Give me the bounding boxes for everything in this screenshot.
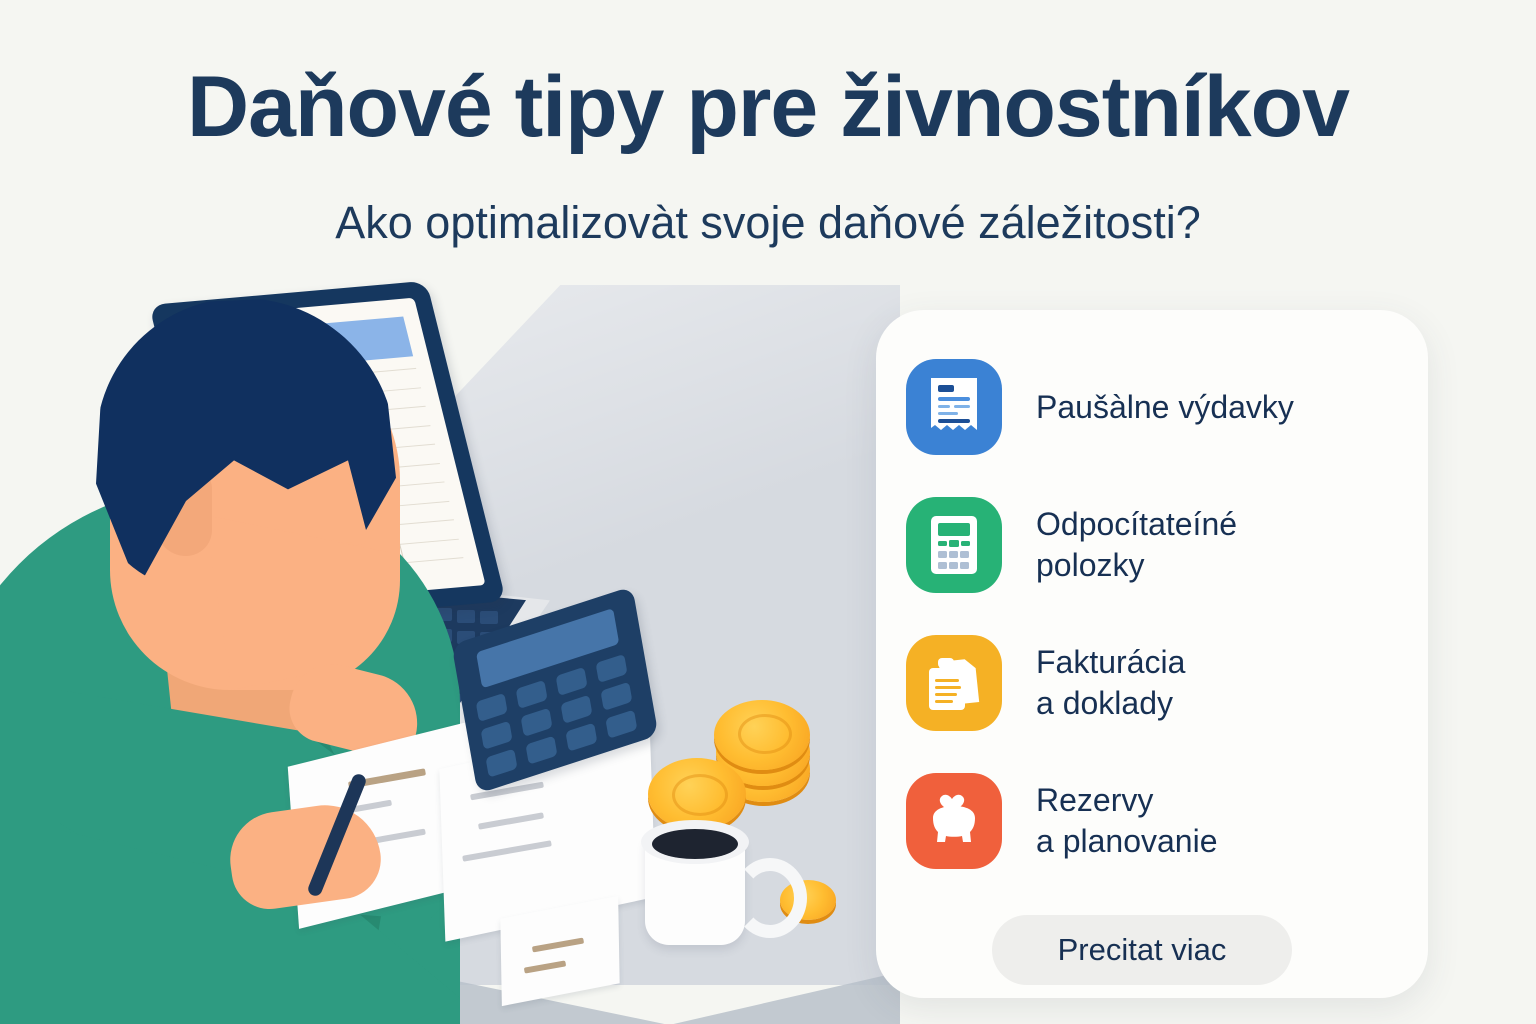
list-item[interactable]: Odpocítateíné polozky xyxy=(906,476,1406,614)
calculator-key xyxy=(486,749,518,778)
list-item[interactable]: Fakturácia a doklady xyxy=(906,614,1406,752)
list-item-label: Rezervy a planovanie xyxy=(1036,780,1217,862)
list-item-label: Fakturácia a doklady xyxy=(1036,642,1185,724)
page-subtitle: Ako optimalizovàt svoje daňové záležitos… xyxy=(0,198,1536,248)
calculator-key xyxy=(481,721,513,750)
calculator-key xyxy=(600,682,632,711)
calculator-key xyxy=(476,693,508,722)
piggy-bank-icon xyxy=(906,773,1002,869)
features-list: Paušàlne výdavky xyxy=(906,338,1406,890)
calculator-key xyxy=(521,708,553,737)
features-card: Paušàlne výdavky xyxy=(876,310,1428,998)
page-title: Daňové tipy pre živnostníkov xyxy=(0,62,1536,152)
calculator-key xyxy=(525,736,557,765)
receipt-icon xyxy=(906,359,1002,455)
keyboard-key xyxy=(480,611,498,624)
calculator-key xyxy=(565,723,597,752)
keyboard-key xyxy=(457,610,475,623)
calculator-key xyxy=(605,710,637,739)
poster-canvas: Daňové tipy pre živnostníkov Ako optimal… xyxy=(0,0,1536,1024)
mug-handle xyxy=(733,858,807,938)
clipboard-icon xyxy=(906,635,1002,731)
calculator-key xyxy=(556,667,588,696)
calculator-key xyxy=(516,680,548,709)
hero-illustration xyxy=(0,270,900,1024)
calculator-key xyxy=(560,695,592,724)
calculator-icon xyxy=(906,497,1002,593)
list-item-label: Odpocítateíné polozky xyxy=(1036,504,1237,586)
calculator-key xyxy=(596,654,628,683)
list-item[interactable]: Rezervy a planovanie xyxy=(906,752,1406,890)
list-item[interactable]: Paušàlne výdavky xyxy=(906,338,1406,476)
list-item-label: Paušàlne výdavky xyxy=(1036,387,1294,428)
coin-detail-ring xyxy=(672,774,728,816)
coin-detail-ring xyxy=(738,714,792,754)
coffee-liquid xyxy=(652,829,738,859)
read-more-button[interactable]: Precitat viac xyxy=(992,915,1292,985)
